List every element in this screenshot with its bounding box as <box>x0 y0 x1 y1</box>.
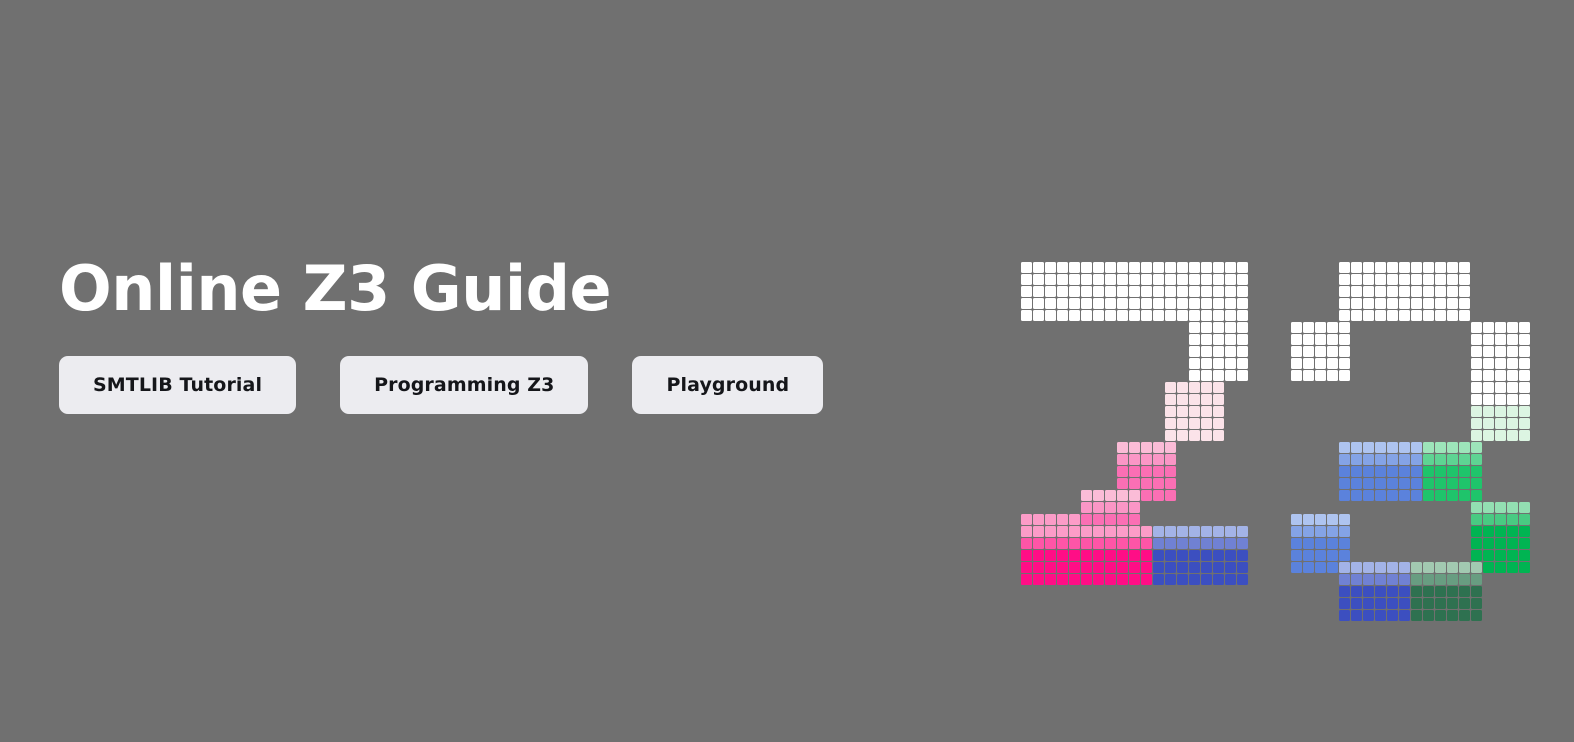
logo-pixel <box>1069 562 1080 573</box>
logo-pixel <box>1339 262 1350 273</box>
logo-pixel <box>1165 430 1176 441</box>
logo-pixel <box>1057 562 1068 573</box>
logo-pixel <box>1459 310 1470 321</box>
logo-pixel <box>1225 334 1236 345</box>
logo-pixel <box>1423 454 1434 465</box>
logo-pixel <box>1201 346 1212 357</box>
logo-pixel <box>1225 526 1236 537</box>
logo-pixel <box>1141 526 1152 537</box>
logo-pixel <box>1399 466 1410 477</box>
logo-pixel <box>1399 454 1410 465</box>
logo-pixel <box>1201 526 1212 537</box>
logo-pixel <box>1363 598 1374 609</box>
logo-pixel <box>1339 334 1350 345</box>
logo-pixel <box>1189 574 1200 585</box>
logo-pixel <box>1045 538 1056 549</box>
logo-pixel <box>1423 466 1434 477</box>
logo-pixel <box>1327 322 1338 333</box>
logo-pixel <box>1021 574 1032 585</box>
logo-pixel <box>1303 514 1314 525</box>
logo-pixel <box>1339 466 1350 477</box>
logo-pixel <box>1213 274 1224 285</box>
logo-pixel <box>1237 274 1248 285</box>
logo-pixel <box>1129 274 1140 285</box>
logo-pixel <box>1435 274 1446 285</box>
logo-pixel <box>1399 442 1410 453</box>
logo-pixel <box>1213 370 1224 381</box>
logo-pixel <box>1165 442 1176 453</box>
logo-pixel <box>1447 478 1458 489</box>
logo-pixel <box>1411 262 1422 273</box>
logo-pixel <box>1117 526 1128 537</box>
logo-pixel <box>1423 490 1434 501</box>
logo-pixel <box>1351 310 1362 321</box>
logo-pixel <box>1189 406 1200 417</box>
logo-pixel <box>1117 454 1128 465</box>
logo-pixel <box>1153 466 1164 477</box>
logo-pixel <box>1483 358 1494 369</box>
logo-pixel <box>1339 514 1350 525</box>
logo-pixel <box>1459 274 1470 285</box>
logo-pixel <box>1165 538 1176 549</box>
logo-pixel <box>1129 286 1140 297</box>
logo-pixel <box>1141 538 1152 549</box>
logo-pixel <box>1507 430 1518 441</box>
logo-pixel <box>1495 562 1506 573</box>
logo-pixel <box>1447 610 1458 621</box>
logo-pixel <box>1237 298 1248 309</box>
logo-pixel <box>1363 586 1374 597</box>
logo-pixel <box>1471 574 1482 585</box>
logo-pixel <box>1291 334 1302 345</box>
logo-pixel <box>1447 298 1458 309</box>
logo-pixel <box>1327 514 1338 525</box>
logo-pixel <box>1189 334 1200 345</box>
logo-pixel <box>1081 526 1092 537</box>
logo-pixel <box>1411 442 1422 453</box>
logo-pixel <box>1189 322 1200 333</box>
logo-pixel <box>1189 358 1200 369</box>
logo-pixel <box>1153 478 1164 489</box>
logo-pixel <box>1303 334 1314 345</box>
logo-pixel <box>1411 598 1422 609</box>
logo-pixel <box>1411 478 1422 489</box>
logo-pixel <box>1483 514 1494 525</box>
logo-pixel <box>1303 322 1314 333</box>
logo-pixel <box>1363 442 1374 453</box>
logo-pixel <box>1363 562 1374 573</box>
logo-pixel <box>1093 562 1104 573</box>
logo-pixel <box>1153 286 1164 297</box>
logo-pixel <box>1483 562 1494 573</box>
logo-pixel <box>1447 262 1458 273</box>
logo-pixel <box>1471 598 1482 609</box>
logo-pixel <box>1507 562 1518 573</box>
logo-pixel <box>1237 346 1248 357</box>
smtlib-tutorial-button[interactable]: SMTLIB Tutorial <box>59 356 296 414</box>
logo-pixel <box>1033 526 1044 537</box>
logo-pixel <box>1471 610 1482 621</box>
logo-pixel <box>1129 298 1140 309</box>
logo-pixel <box>1105 298 1116 309</box>
logo-pixel <box>1165 394 1176 405</box>
logo-pixel <box>1081 574 1092 585</box>
logo-pixel <box>1315 322 1326 333</box>
logo-pixel <box>1339 538 1350 549</box>
logo-pixel <box>1375 286 1386 297</box>
logo-pixel <box>1471 538 1482 549</box>
logo-pixel <box>1141 262 1152 273</box>
logo-pixel <box>1105 550 1116 561</box>
logo-pixel <box>1459 286 1470 297</box>
logo-pixel <box>1105 526 1116 537</box>
logo-pixel <box>1399 610 1410 621</box>
logo-pixel <box>1339 298 1350 309</box>
playground-button[interactable]: Playground <box>632 356 823 414</box>
logo-pixel <box>1399 586 1410 597</box>
logo-pixel <box>1153 274 1164 285</box>
logo-pixel <box>1291 514 1302 525</box>
logo-pixel <box>1177 394 1188 405</box>
logo-pixel <box>1471 586 1482 597</box>
logo-pixel <box>1045 310 1056 321</box>
logo-pixel <box>1327 370 1338 381</box>
hero-text-block: Online Z3 Guide SMTLIB Tutorial Programm… <box>59 258 959 414</box>
logo-pixel <box>1411 454 1422 465</box>
logo-pixel <box>1411 298 1422 309</box>
logo-pixel <box>1483 322 1494 333</box>
logo-pixel <box>1507 550 1518 561</box>
logo-pixel <box>1363 466 1374 477</box>
logo-pixel <box>1189 346 1200 357</box>
logo-pixel <box>1351 610 1362 621</box>
logo-pixel <box>1225 298 1236 309</box>
logo-pixel <box>1483 334 1494 345</box>
logo-pixel <box>1351 478 1362 489</box>
logo-pixel <box>1057 550 1068 561</box>
logo-pixel <box>1165 382 1176 393</box>
logo-pixel <box>1117 538 1128 549</box>
logo-pixel <box>1483 394 1494 405</box>
logo-pixel <box>1237 310 1248 321</box>
logo-pixel <box>1069 526 1080 537</box>
logo-pixel <box>1387 586 1398 597</box>
logo-pixel <box>1435 586 1446 597</box>
logo-pixel <box>1459 262 1470 273</box>
logo-pixel <box>1459 478 1470 489</box>
logo-pixel <box>1327 526 1338 537</box>
logo-pixel <box>1303 550 1314 561</box>
logo-pixel <box>1387 298 1398 309</box>
logo-pixel <box>1213 262 1224 273</box>
logo-pixel <box>1507 526 1518 537</box>
logo-pixel <box>1129 562 1140 573</box>
logo-pixel <box>1213 358 1224 369</box>
logo-pixel <box>1423 478 1434 489</box>
logo-pixel <box>1045 550 1056 561</box>
logo-pixel <box>1201 370 1212 381</box>
logo-pixel <box>1483 346 1494 357</box>
logo-pixel <box>1483 406 1494 417</box>
logo-pixel <box>1483 382 1494 393</box>
logo-pixel <box>1129 514 1140 525</box>
logo-pixel <box>1117 442 1128 453</box>
logo-pixel <box>1177 538 1188 549</box>
logo-pixel <box>1117 490 1128 501</box>
logo-pixel <box>1081 550 1092 561</box>
logo-pixel <box>1507 406 1518 417</box>
logo-pixel <box>1507 334 1518 345</box>
logo-pixel <box>1177 550 1188 561</box>
programming-z3-button[interactable]: Programming Z3 <box>340 356 588 414</box>
logo-pixel <box>1387 490 1398 501</box>
logo-pixel <box>1519 562 1530 573</box>
logo-pixel <box>1129 526 1140 537</box>
logo-pixel <box>1375 262 1386 273</box>
logo-pixel <box>1291 562 1302 573</box>
logo-pixel <box>1315 526 1326 537</box>
logo-pixel <box>1423 286 1434 297</box>
logo-pixel <box>1387 478 1398 489</box>
logo-pixel <box>1213 286 1224 297</box>
logo-pixel <box>1315 562 1326 573</box>
logo-pixel <box>1411 562 1422 573</box>
logo-pixel <box>1201 298 1212 309</box>
logo-pixel <box>1069 310 1080 321</box>
logo-pixel <box>1471 454 1482 465</box>
logo-pixel <box>1339 454 1350 465</box>
logo-pixel <box>1483 550 1494 561</box>
logo-pixel <box>1093 310 1104 321</box>
logo-pixel <box>1423 562 1434 573</box>
logo-pixel <box>1387 574 1398 585</box>
logo-pixel <box>1117 502 1128 513</box>
logo-pixel <box>1435 442 1446 453</box>
logo-pixel <box>1177 574 1188 585</box>
logo-pixel <box>1399 298 1410 309</box>
logo-pixel <box>1351 274 1362 285</box>
logo-pixel <box>1399 598 1410 609</box>
logo-pixel <box>1237 526 1248 537</box>
logo-pixel <box>1471 406 1482 417</box>
logo-pixel <box>1351 454 1362 465</box>
logo-pixel <box>1165 262 1176 273</box>
logo-pixel <box>1315 538 1326 549</box>
logo-pixel <box>1165 418 1176 429</box>
logo-pixel <box>1237 262 1248 273</box>
logo-pixel <box>1399 478 1410 489</box>
logo-pixel <box>1141 562 1152 573</box>
logo-pixel <box>1399 274 1410 285</box>
logo-pixel <box>1201 562 1212 573</box>
logo-pixel <box>1375 562 1386 573</box>
logo-pixel <box>1291 550 1302 561</box>
logo-pixel <box>1387 466 1398 477</box>
logo-pixel <box>1201 430 1212 441</box>
logo-pixel <box>1339 442 1350 453</box>
logo-pixel <box>1447 562 1458 573</box>
logo-pixel <box>1471 394 1482 405</box>
logo-pixel <box>1225 550 1236 561</box>
logo-pixel <box>1141 274 1152 285</box>
logo-pixel <box>1411 586 1422 597</box>
logo-pixel <box>1519 406 1530 417</box>
logo-pixel <box>1363 262 1374 273</box>
logo-pixel <box>1483 418 1494 429</box>
logo-pixel <box>1507 394 1518 405</box>
logo-pixel <box>1351 262 1362 273</box>
logo-pixel <box>1141 490 1152 501</box>
logo-pixel <box>1303 358 1314 369</box>
logo-pixel <box>1105 490 1116 501</box>
logo-pixel <box>1447 586 1458 597</box>
hero-button-row: SMTLIB Tutorial Programming Z3 Playgroun… <box>59 356 959 414</box>
logo-pixel <box>1189 562 1200 573</box>
logo-pixel <box>1213 526 1224 537</box>
logo-pixel <box>1225 562 1236 573</box>
logo-pixel <box>1165 298 1176 309</box>
logo-pixel <box>1315 346 1326 357</box>
logo-pixel <box>1351 286 1362 297</box>
logo-pixel <box>1225 286 1236 297</box>
logo-pixel <box>1201 358 1212 369</box>
logo-pixel <box>1213 418 1224 429</box>
logo-pixel <box>1339 370 1350 381</box>
logo-pixel <box>1459 490 1470 501</box>
logo-pixel <box>1519 538 1530 549</box>
logo-pixel <box>1117 310 1128 321</box>
logo-pixel <box>1129 478 1140 489</box>
logo-pixel <box>1423 442 1434 453</box>
logo-pixel <box>1423 298 1434 309</box>
logo-pixel <box>1213 550 1224 561</box>
logo-pixel <box>1387 610 1398 621</box>
logo-pixel <box>1105 574 1116 585</box>
logo-pixel <box>1375 442 1386 453</box>
logo-pixel <box>1177 526 1188 537</box>
logo-pixel <box>1237 334 1248 345</box>
logo-pixel <box>1483 526 1494 537</box>
logo-pixel <box>1093 262 1104 273</box>
logo-pixel <box>1189 526 1200 537</box>
logo-pixel <box>1081 310 1092 321</box>
logo-pixel <box>1495 346 1506 357</box>
logo-pixel <box>1213 310 1224 321</box>
logo-pixel <box>1033 574 1044 585</box>
logo-pixel <box>1057 514 1068 525</box>
logo-pixel <box>1435 262 1446 273</box>
logo-pixel <box>1045 262 1056 273</box>
logo-pixel <box>1141 550 1152 561</box>
logo-pixel <box>1519 394 1530 405</box>
logo-pixel <box>1141 298 1152 309</box>
logo-pixel <box>1495 550 1506 561</box>
logo-pixel <box>1423 586 1434 597</box>
logo-pixel <box>1057 286 1068 297</box>
logo-pixel <box>1177 262 1188 273</box>
logo-pixel <box>1495 406 1506 417</box>
logo-pixel <box>1339 478 1350 489</box>
logo-pixel <box>1387 286 1398 297</box>
logo-pixel <box>1435 490 1446 501</box>
hero-section: Online Z3 Guide SMTLIB Tutorial Programm… <box>0 0 1574 742</box>
logo-pixel <box>1519 502 1530 513</box>
logo-pixel <box>1327 550 1338 561</box>
logo-pixel <box>1471 490 1482 501</box>
logo-pixel <box>1141 310 1152 321</box>
logo-pixel <box>1153 490 1164 501</box>
logo-pixel <box>1213 298 1224 309</box>
logo-pixel <box>1045 526 1056 537</box>
logo-pixel <box>1495 394 1506 405</box>
logo-pixel <box>1213 382 1224 393</box>
logo-pixel <box>1471 466 1482 477</box>
logo-pixel <box>1141 466 1152 477</box>
logo-pixel <box>1387 454 1398 465</box>
logo-pixel <box>1081 298 1092 309</box>
logo-pixel <box>1471 370 1482 381</box>
logo-pixel <box>1201 418 1212 429</box>
logo-pixel <box>1291 370 1302 381</box>
logo-pixel <box>1519 358 1530 369</box>
logo-pixel <box>1435 298 1446 309</box>
logo-pixel <box>1471 430 1482 441</box>
logo-pixel <box>1363 574 1374 585</box>
logo-pixel <box>1105 502 1116 513</box>
logo-pixel <box>1081 274 1092 285</box>
logo-pixel <box>1339 574 1350 585</box>
logo-pixel <box>1105 538 1116 549</box>
logo-pixel <box>1189 274 1200 285</box>
logo-pixel <box>1411 466 1422 477</box>
logo-pixel <box>1201 274 1212 285</box>
logo-pixel <box>1339 526 1350 537</box>
logo-pixel <box>1315 550 1326 561</box>
logo-pixel <box>1387 442 1398 453</box>
logo-pixel <box>1471 502 1482 513</box>
logo-pixel <box>1093 514 1104 525</box>
logo-pixel <box>1399 574 1410 585</box>
logo-pixel <box>1351 442 1362 453</box>
logo-pixel <box>1411 574 1422 585</box>
logo-pixel <box>1471 322 1482 333</box>
logo-pixel <box>1387 598 1398 609</box>
logo-pixel <box>1153 526 1164 537</box>
logo-pixel <box>1081 502 1092 513</box>
logo-pixel <box>1081 514 1092 525</box>
logo-pixel <box>1435 478 1446 489</box>
logo-pixel <box>1069 574 1080 585</box>
logo-pixel <box>1165 310 1176 321</box>
logo-pixel <box>1315 370 1326 381</box>
logo-pixel <box>1423 598 1434 609</box>
logo-pixel <box>1471 478 1482 489</box>
logo-pixel <box>1213 562 1224 573</box>
logo-pixel <box>1117 274 1128 285</box>
logo-pixel <box>1459 466 1470 477</box>
logo-pixel <box>1225 274 1236 285</box>
logo-pixel <box>1177 298 1188 309</box>
logo-pixel <box>1363 274 1374 285</box>
logo-pixel <box>1447 274 1458 285</box>
logo-pixel <box>1399 562 1410 573</box>
logo-pixel <box>1237 370 1248 381</box>
logo-pixel <box>1375 490 1386 501</box>
logo-pixel <box>1291 322 1302 333</box>
logo-pixel <box>1459 574 1470 585</box>
logo-pixel <box>1375 310 1386 321</box>
logo-pixel <box>1081 562 1092 573</box>
